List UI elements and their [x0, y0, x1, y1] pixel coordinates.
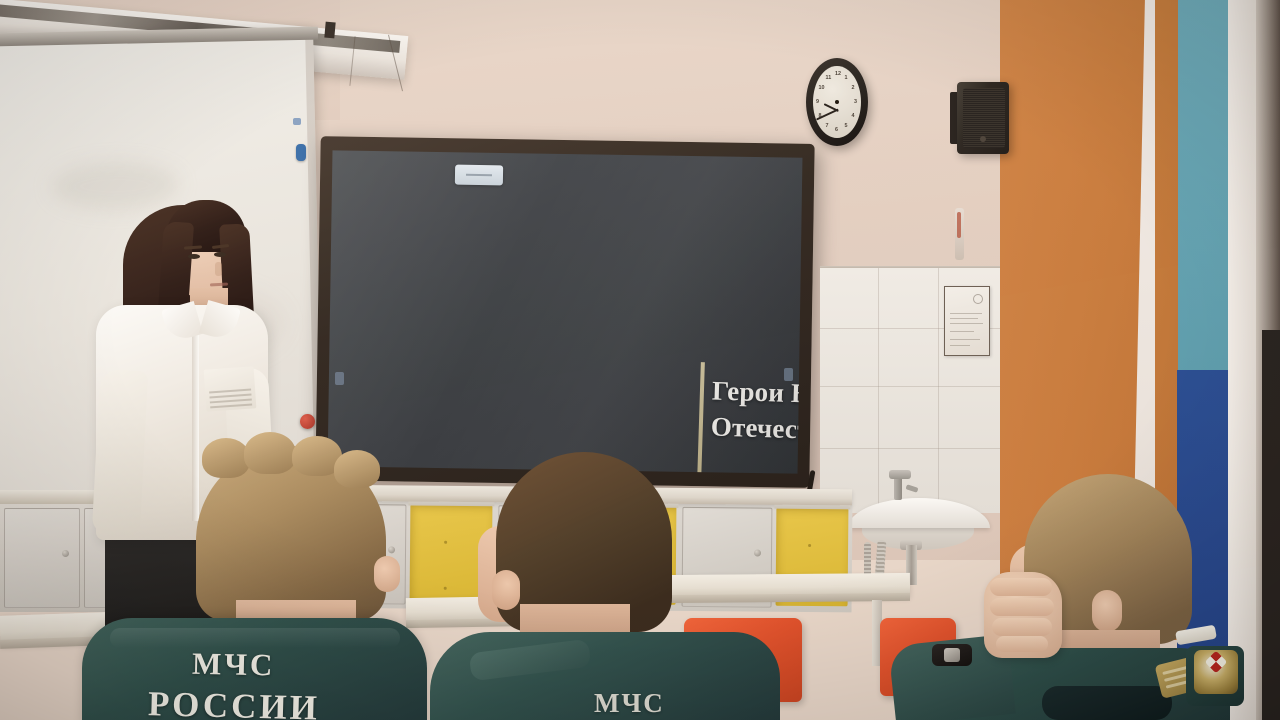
display-badge-line	[466, 174, 492, 176]
presenter-shirt-pocket	[204, 366, 257, 411]
slide-accent-bar	[694, 362, 705, 474]
clock-numeral: 4	[851, 113, 854, 119]
red-wall-button[interactable]	[300, 414, 315, 429]
clock-numeral: 1	[845, 75, 848, 81]
whiteboard-clip[interactable]	[293, 118, 301, 125]
uniform-text-mchs: МЧС	[192, 646, 413, 687]
clock-numeral: 9	[816, 99, 819, 105]
presenter-eye-left	[188, 254, 200, 259]
speaker-driver	[980, 136, 986, 142]
framed-certificate	[944, 286, 990, 356]
tile-grout-line	[820, 386, 1000, 387]
classroom-scene: Герои Великой Отечественной войны Предст…	[0, 0, 1280, 720]
certificate-seal	[973, 294, 983, 304]
clock-numeral: 11	[826, 75, 832, 81]
student-right-shoulder	[1042, 686, 1172, 720]
display-sensor-left	[335, 372, 344, 385]
clock-numeral: 7	[826, 123, 829, 129]
presenter-shirt-placket	[192, 326, 199, 521]
tile-grout-line	[820, 448, 1000, 449]
light-mount-bracket	[324, 22, 335, 39]
cabinet-lock[interactable]	[754, 550, 761, 557]
clock-center-pin	[835, 100, 839, 104]
cabinet-door[interactable]	[4, 508, 80, 608]
student-right-hand	[984, 572, 1062, 658]
presenter-eye-right	[214, 252, 226, 257]
presenter-arm-left	[92, 369, 149, 536]
door-opening	[1262, 330, 1280, 720]
cabinet-lock[interactable]	[388, 546, 395, 553]
jacket-shoulder-highlight	[110, 628, 400, 648]
uniform-text-middle: МЧС	[594, 688, 774, 719]
clock-numeral: 3	[854, 99, 857, 105]
tile-grout-line	[878, 268, 879, 513]
clock-numeral: 2	[851, 85, 854, 91]
slide-title: Герои Великой Отечественной войны	[710, 373, 802, 457]
clock-numeral: 12	[835, 71, 841, 77]
presentation-slide: Герои Великой Отечественной войны Предст…	[653, 306, 803, 474]
thermometer-column	[957, 212, 961, 238]
slide-title-line-2: Отечественной войны	[710, 409, 802, 457]
display-sensor-right	[784, 368, 793, 381]
faucet-handle[interactable]	[889, 470, 911, 479]
clock-numeral: 10	[819, 85, 825, 91]
tile-grout-line	[938, 268, 939, 513]
interactive-display-screen[interactable]: Герои Великой Отечественной войны Предст…	[328, 150, 803, 473]
student-right-ear	[1092, 590, 1122, 632]
whiteboard-magnet[interactable]	[296, 144, 306, 161]
clock-numeral: 6	[835, 127, 838, 133]
whiteboard-smudge	[50, 159, 181, 212]
presenter-nose	[215, 262, 222, 276]
clock-numeral: 5	[845, 123, 848, 129]
student-left-ear	[374, 556, 400, 592]
student-middle-ear	[492, 570, 520, 610]
cabinet-lock[interactable]	[62, 550, 69, 557]
student-left-hair	[196, 446, 386, 621]
wristwatch-face	[944, 648, 960, 662]
door-frame	[1228, 0, 1258, 720]
